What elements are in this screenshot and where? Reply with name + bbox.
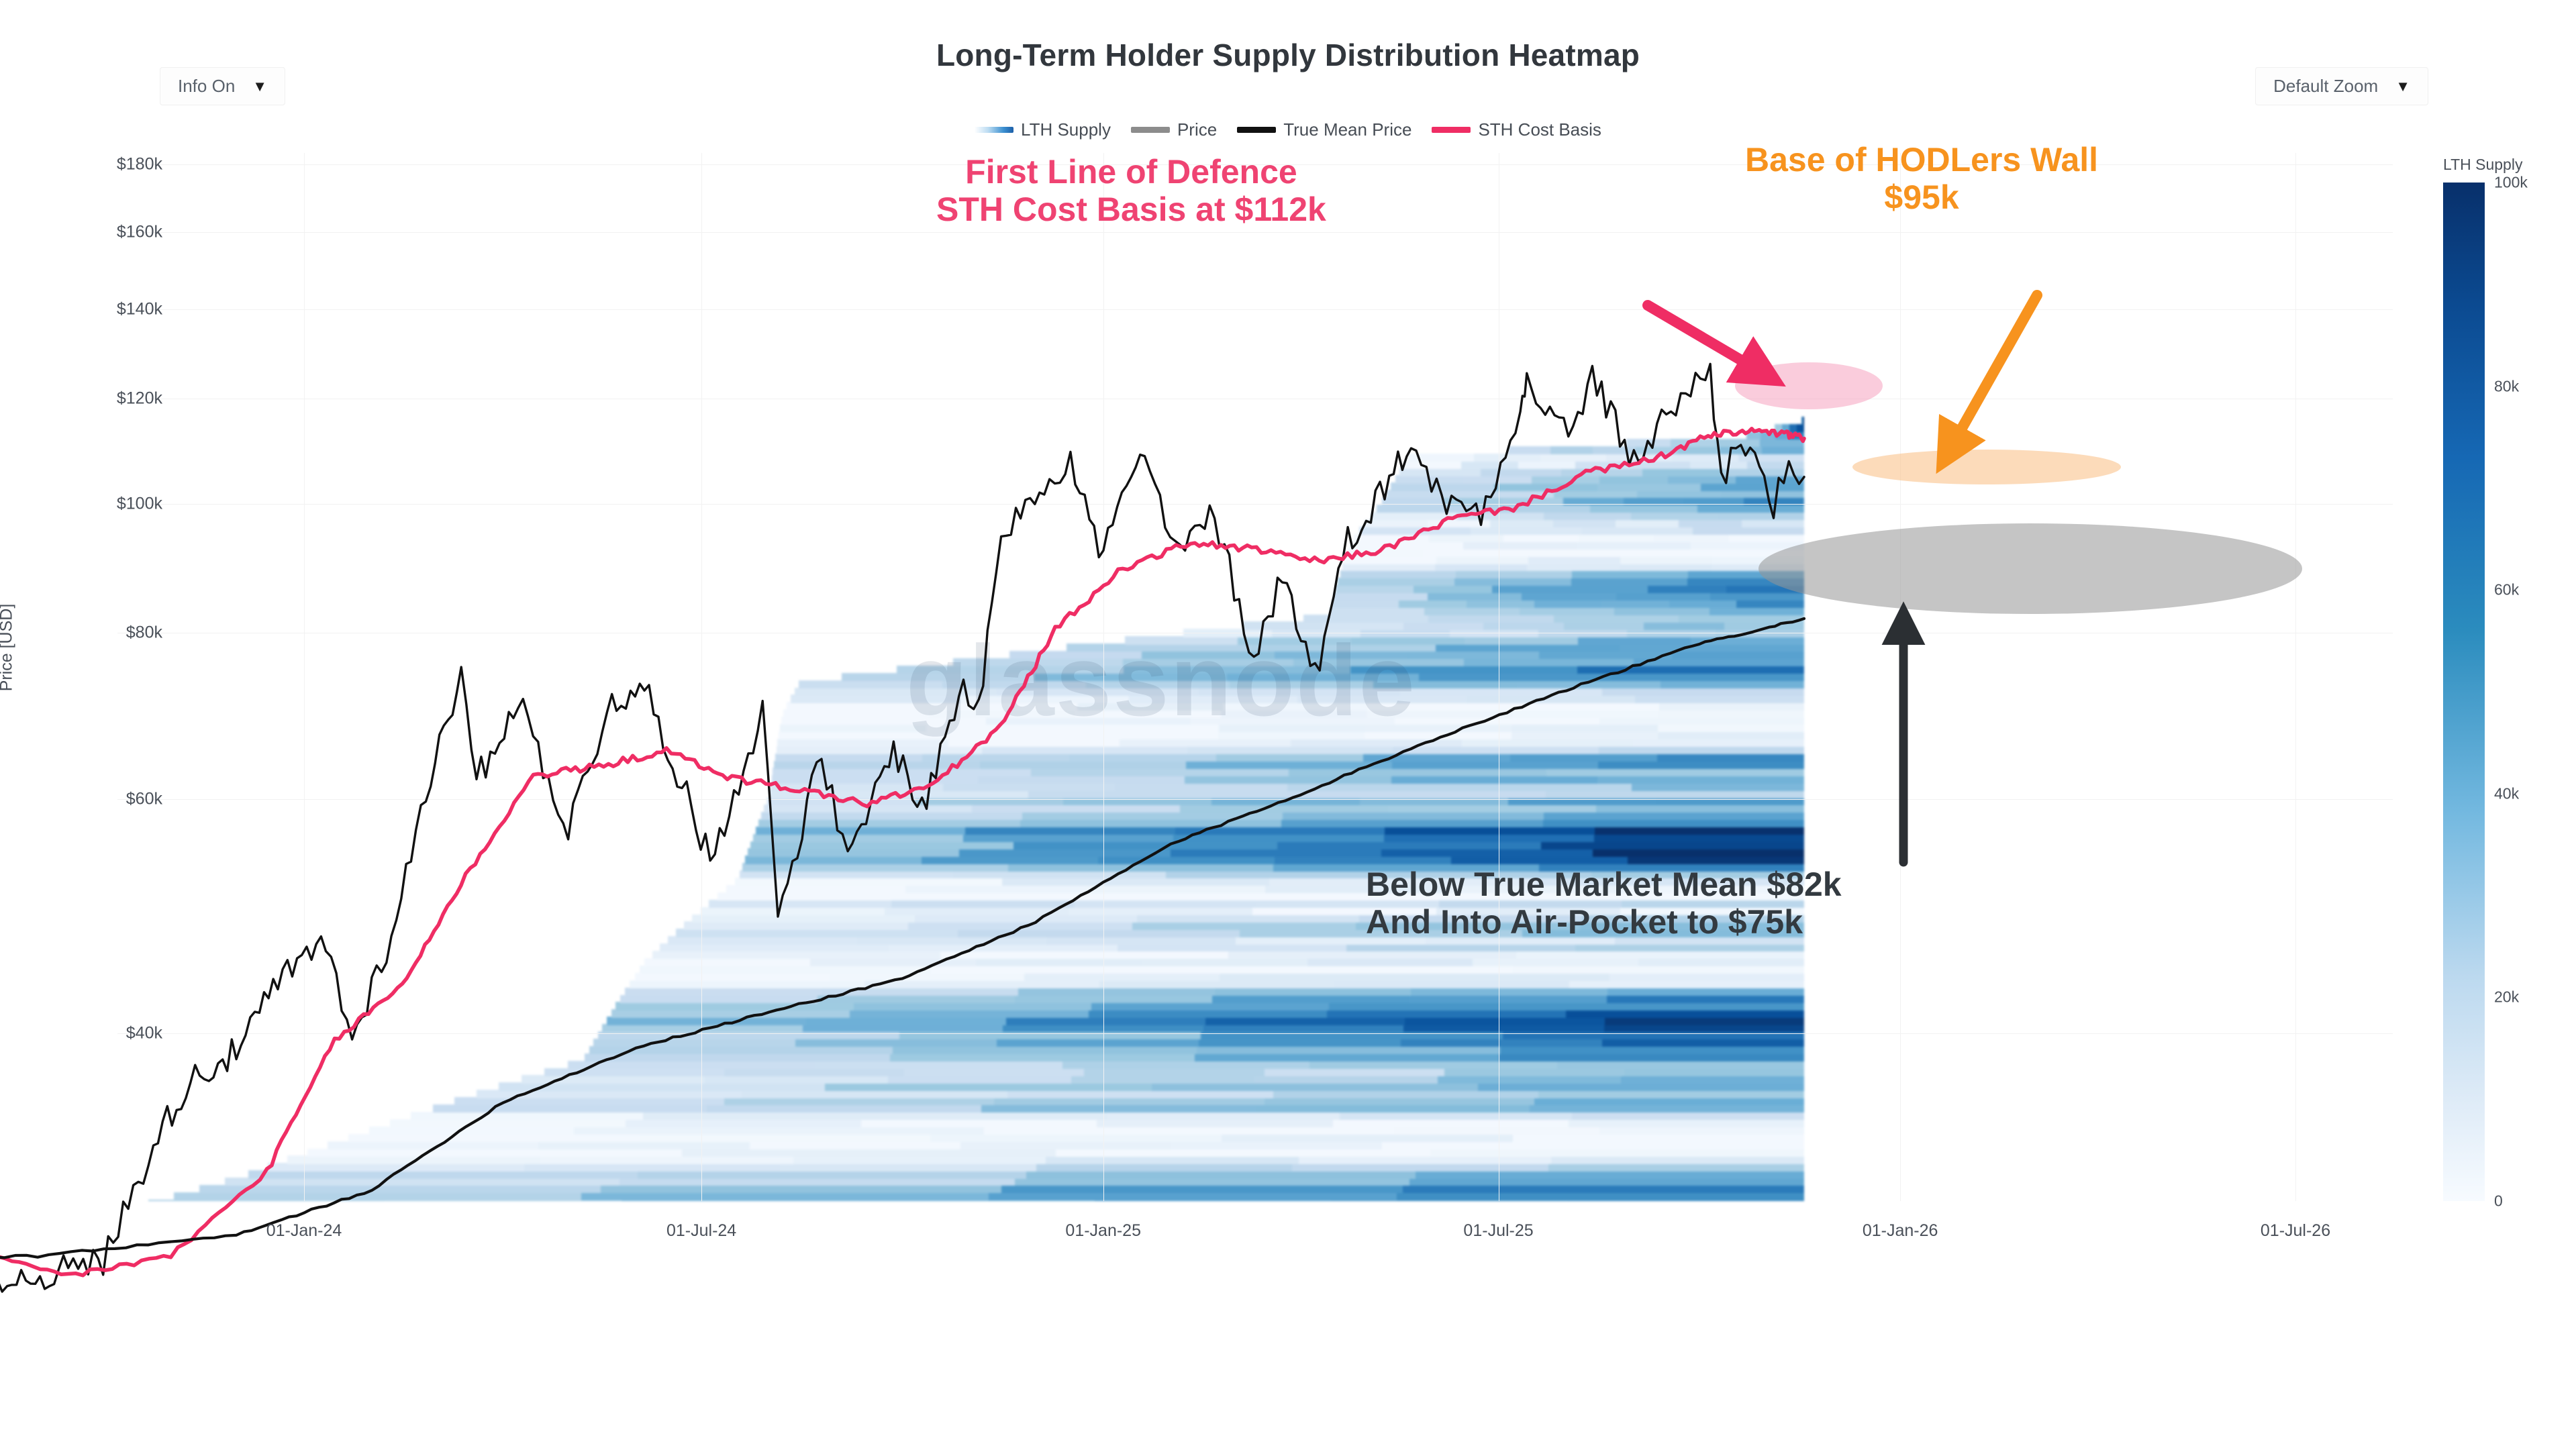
- y-axis-tick-label: $120k: [62, 389, 162, 409]
- heatmap-band: [1742, 519, 1805, 527]
- heatmap-band: [568, 1061, 816, 1069]
- heatmap-band: [1467, 694, 1636, 703]
- heatmap-band: [1510, 754, 1658, 762]
- heatmap-band: [1132, 921, 1357, 929]
- heatmap-band: [1115, 782, 1288, 790]
- heatmap-band: [1620, 556, 1713, 564]
- heatmap-band: [1338, 578, 1455, 586]
- heatmap-band: [1416, 1170, 1805, 1178]
- heatmap-band: [1661, 680, 1804, 688]
- heatmap-band: [1456, 570, 1573, 578]
- legend-item-true-mean-price[interactable]: True Mean Price: [1237, 119, 1411, 140]
- heatmap-band: [1046, 936, 1237, 944]
- heatmap-band: [1557, 1061, 1804, 1069]
- legend-item-price[interactable]: Price: [1131, 119, 1217, 140]
- heatmap-band: [1635, 694, 1804, 703]
- heatmap-band: [783, 709, 930, 717]
- heatmap-band: [522, 1075, 706, 1083]
- heatmap-band: [1342, 563, 1436, 571]
- heatmap-band: [890, 1053, 1196, 1062]
- heatmap-band: [1567, 1002, 1804, 1010]
- heatmap-band: [1534, 1097, 1804, 1105]
- heatmap-band: [1598, 761, 1804, 769]
- info-dropdown-label: Info On: [178, 76, 235, 97]
- heatmap-band: [1631, 512, 1719, 520]
- heatmap-band: [544, 1068, 726, 1076]
- heatmap-band: [1578, 636, 1692, 644]
- heatmap-band: [982, 746, 1189, 754]
- heatmap-band: [1575, 943, 1804, 951]
- gridline-vertical: [1499, 153, 1499, 1201]
- heatmap-band: [1142, 651, 1275, 659]
- y-axis-tick-label: $100k: [62, 495, 162, 514]
- heatmap-band: [1544, 512, 1632, 520]
- heatmap-band: [1197, 1046, 1501, 1054]
- heatmap-band: [889, 943, 1118, 951]
- heatmap-band: [1392, 761, 1599, 769]
- heatmap-band: [1013, 841, 1278, 849]
- heatmap-band: [1215, 988, 1412, 996]
- heatmap-band: [643, 1112, 876, 1120]
- heatmap-band: [1395, 717, 1600, 725]
- heatmap-band: [1723, 468, 1804, 476]
- heatmap-band: [1571, 578, 1689, 586]
- heatmap-band: [1546, 768, 1804, 776]
- heatmap-band: [1444, 1068, 1626, 1076]
- heatmap-band: [574, 1127, 780, 1135]
- chart-title: Long-Term Holder Supply Distribution Hea…: [0, 37, 2576, 73]
- heatmap-band: [1474, 454, 1541, 462]
- heatmap-band: [1118, 943, 1347, 951]
- heatmap-band: [1185, 775, 1392, 783]
- legend-label: STH Cost Basis: [1478, 119, 1601, 140]
- heatmap-band: [1069, 754, 1218, 762]
- heatmap-band: [1577, 666, 1804, 674]
- heatmap-band: [1123, 658, 1294, 666]
- heatmap-band: [758, 819, 1021, 827]
- heatmap-band: [1180, 805, 1389, 813]
- heatmap-band: [1385, 827, 1595, 835]
- heatmap-band: [1435, 563, 1528, 571]
- heatmap-band: [1593, 1141, 1804, 1149]
- heatmap-band: [1637, 490, 1722, 498]
- heatmap-band: [1220, 973, 1416, 981]
- heatmap-band: [965, 827, 1176, 835]
- heatmap-band: [625, 988, 822, 996]
- heatmap-band: [830, 973, 1026, 981]
- heatmap-band: [717, 892, 936, 900]
- heatmap-band: [875, 1112, 1108, 1120]
- heatmap-band: [1500, 1046, 1804, 1054]
- y-axis-tick-label: $140k: [62, 300, 162, 319]
- heatmap-band: [1340, 570, 1457, 578]
- heatmap-band: [799, 680, 943, 688]
- heatmap-band: [1405, 1017, 1605, 1025]
- heatmap-band: [538, 1141, 750, 1149]
- heatmap-band: [390, 1119, 627, 1127]
- heatmap-band: [287, 1155, 541, 1163]
- heatmap-band: [1401, 1039, 1603, 1047]
- heatmap-band: [1438, 1075, 1622, 1083]
- heatmap-band: [1171, 848, 1383, 856]
- sth-cost-basis-highlight-ellipse: [1735, 362, 1883, 409]
- heatmap-band: [899, 1031, 1202, 1039]
- heatmap-band: [1309, 1061, 1558, 1069]
- heatmap-band: [615, 1002, 854, 1010]
- heatmap-band: [1359, 527, 1471, 535]
- heatmap-band: [707, 1104, 982, 1113]
- heatmap-band: [953, 658, 1124, 666]
- heatmap-band: [795, 688, 997, 696]
- heatmap-band: [1419, 673, 1612, 681]
- heatmap-band: [930, 1134, 1222, 1142]
- heatmap-band: [1621, 1075, 1804, 1083]
- heatmap-band: [1634, 658, 1804, 666]
- heatmap-band: [1789, 431, 1804, 439]
- heatmap-band: [1624, 1068, 1804, 1076]
- heatmap-band: [1593, 446, 1636, 454]
- heatmap-band: [960, 694, 1130, 703]
- legend-label: LTH Supply: [1021, 119, 1111, 140]
- heatmap-band: [1679, 519, 1742, 527]
- heatmap-band: [1031, 768, 1290, 776]
- gridline-vertical: [1103, 153, 1104, 1201]
- heatmap-band: [761, 812, 1023, 820]
- heatmap-band: [1528, 556, 1621, 564]
- heatmap-band: [972, 805, 1181, 813]
- x-axis-tick-label: 01-Jan-26: [1863, 1221, 1938, 1241]
- heatmap-band: [1275, 856, 1452, 864]
- heatmap-band: [1620, 643, 1804, 652]
- heatmap-band: [1546, 790, 1804, 798]
- heatmap-band: [922, 754, 1071, 762]
- heatmap-band: [905, 885, 1086, 893]
- heatmap-band: [997, 688, 1199, 696]
- heatmap-band: [1034, 673, 1228, 681]
- heatmap-band: [1142, 958, 1308, 966]
- heatmap-band: [1265, 1068, 1446, 1076]
- heatmap-band: [701, 907, 886, 915]
- heatmap-band: [199, 1185, 601, 1193]
- heatmap-band: [1467, 600, 1535, 608]
- heatmap-band: [1230, 680, 1374, 688]
- heatmap-band: [1607, 995, 1804, 1003]
- heatmap-band: [795, 1039, 998, 1047]
- gridline-vertical: [2295, 153, 2296, 1201]
- heatmap-band: [1346, 943, 1576, 951]
- heatmap-band: [753, 834, 964, 842]
- heatmap-band: [1644, 621, 1725, 629]
- heatmap-band: [779, 1127, 985, 1135]
- heatmap-band: [1349, 541, 1464, 549]
- heatmap-band: [1633, 739, 1804, 747]
- gridline-vertical: [701, 153, 702, 1201]
- heatmap-band: [1672, 454, 1739, 462]
- heatmap-band: [1221, 709, 1368, 717]
- heatmap-band: [709, 900, 892, 908]
- heatmap-band: [1344, 556, 1437, 564]
- heatmap-band: [1599, 717, 1804, 725]
- heatmap-band: [989, 1192, 1397, 1200]
- air-pocket-highlight-ellipse: [1758, 523, 2302, 614]
- heatmap-band: [1548, 1163, 1805, 1171]
- heatmap-band: [1277, 841, 1542, 849]
- colorbar-tick-label: 0: [2494, 1192, 2503, 1210]
- heatmap-band: [1616, 519, 1679, 527]
- heatmap-band: [1340, 1112, 1573, 1120]
- lth-supply-swatch-icon: [975, 127, 1013, 133]
- heatmap-band: [1582, 527, 1694, 535]
- heatmap-band: [774, 761, 981, 769]
- heatmap-band: [1293, 658, 1465, 666]
- heatmap-band: [602, 1024, 803, 1032]
- heatmap-band: [1654, 534, 1730, 542]
- heatmap-band: [1738, 454, 1804, 462]
- heatmap-band: [771, 782, 944, 790]
- heatmap-band: [935, 892, 1153, 900]
- heatmap-band: [1026, 1170, 1416, 1178]
- heatmap-band: [1503, 1031, 1804, 1039]
- heatmap-band: [1710, 592, 1804, 601]
- heatmap-band: [777, 739, 949, 747]
- heatmap-band: [1189, 1127, 1395, 1135]
- heatmap-band: [1543, 819, 1804, 827]
- heatmap-band: [1599, 475, 1669, 483]
- heatmap-band: [1428, 519, 1491, 527]
- x-axis-tick-label: 01-Jan-25: [1065, 1221, 1141, 1241]
- heatmap-band: [929, 709, 1076, 717]
- heatmap-band: [1186, 761, 1393, 769]
- heatmap-band: [1595, 827, 1804, 835]
- heatmap-band: [1550, 446, 1594, 454]
- heatmap-band: [864, 980, 1100, 988]
- gridline-horizontal: [117, 504, 2393, 505]
- heatmap-band: [1222, 966, 1514, 974]
- heatmap-band: [1222, 1134, 1514, 1142]
- heatmap-band: [1024, 973, 1220, 981]
- heatmap-band: [174, 1192, 583, 1200]
- heatmap-band: [1056, 1149, 1431, 1157]
- heatmap-band: [1569, 1119, 1804, 1127]
- heatmap-band: [1303, 615, 1430, 623]
- heatmap-band: [1354, 534, 1430, 542]
- x-axis-tick-label: 01-Jul-26: [2261, 1221, 2330, 1241]
- chart-plot-area[interactable]: glassnode: [117, 153, 2393, 1201]
- heatmap-band: [1607, 988, 1804, 996]
- hodlers-wall-highlight-ellipse: [1852, 450, 2121, 484]
- heatmap-band: [1074, 900, 1257, 908]
- heatmap-band: [1367, 709, 1514, 717]
- heatmap-band: [976, 958, 1142, 966]
- heatmap-band: [1534, 600, 1603, 608]
- heatmap-band: [1099, 980, 1335, 988]
- heatmap-band: [959, 848, 1171, 856]
- heatmap-band: [777, 746, 983, 754]
- heatmap-band: [1020, 819, 1283, 827]
- heatmap-band: [1483, 621, 1565, 629]
- chart-legend: LTH Supply Price True Mean Price STH Cos…: [0, 119, 2576, 140]
- heatmap-band: [748, 848, 960, 856]
- heatmap-band: [1599, 746, 1804, 754]
- heatmap-band: [1736, 475, 1804, 483]
- heatmap-band: [607, 1017, 807, 1025]
- heatmap-band: [1724, 621, 1804, 629]
- heatmap-band: [1638, 958, 1804, 966]
- heatmap-band: [1775, 431, 1791, 439]
- heatmap-band: [1516, 951, 1804, 959]
- heatmap-band: [1697, 505, 1804, 513]
- heatmap-band: [775, 754, 924, 762]
- heatmap-band: [1553, 519, 1617, 527]
- heatmap-band: [1387, 490, 1471, 498]
- heatmap-band: [1642, 468, 1724, 476]
- heatmap-band: [635, 973, 831, 981]
- heatmap-band: [1729, 534, 1804, 542]
- heatmap-band: [1404, 461, 1463, 469]
- heatmap-band: [791, 694, 960, 703]
- heatmap-band: [1518, 461, 1577, 469]
- heatmap-band: [1424, 607, 1520, 615]
- heatmap-band: [1223, 702, 1369, 710]
- heatmap-band: [601, 1185, 1003, 1193]
- heatmap-band: [1760, 439, 1804, 447]
- heatmap-band: [1499, 1053, 1804, 1062]
- heatmap-band: [1173, 834, 1385, 842]
- heatmap-band: [1411, 988, 1608, 996]
- x-axis-tick-label: 01-Jan-24: [266, 1221, 342, 1241]
- heatmap-band: [1028, 790, 1288, 798]
- heatmap-band: [1471, 527, 1583, 535]
- heatmap-band: [780, 1163, 1037, 1171]
- y-axis-tick-label: $80k: [62, 623, 162, 643]
- heatmap-band: [1292, 1163, 1549, 1171]
- gridline-vertical: [304, 153, 305, 1201]
- heatmap-band: [1067, 643, 1252, 652]
- colorbar-tick-label: 100k: [2494, 174, 2528, 192]
- heatmap-band: [454, 1097, 726, 1105]
- heatmap-band: [1069, 907, 1254, 915]
- x-axis-tick-label: 01-Jul-25: [1463, 1221, 1533, 1241]
- colorbar-tick-label: 60k: [2494, 581, 2519, 599]
- legend-item-lth-supply[interactable]: LTH Supply: [975, 119, 1111, 140]
- heatmap-band: [769, 790, 1029, 798]
- sth-cost-basis-annotation: First Line of Defence STH Cost Basis at …: [936, 153, 1326, 228]
- heatmap-band: [593, 1039, 796, 1047]
- heatmap-band: [772, 775, 979, 783]
- heatmap-band: [1530, 1104, 1804, 1113]
- heatmap-band: [1377, 505, 1485, 513]
- heatmap-band: [1423, 548, 1500, 556]
- heatmap-band: [1399, 468, 1481, 476]
- heatmap-band: [692, 915, 915, 923]
- heatmap-band: [1579, 534, 1654, 542]
- heatmap-band: [1291, 739, 1463, 747]
- heatmap-band: [1797, 424, 1804, 432]
- heatmap-band: [1219, 724, 1366, 732]
- heatmap-band: [1403, 1024, 1605, 1032]
- heatmap-band: [1710, 607, 1804, 615]
- legend-item-sth-cost-basis[interactable]: STH Cost Basis: [1432, 119, 1601, 140]
- heatmap-band: [1513, 1134, 1804, 1142]
- heatmap-band: [780, 724, 927, 732]
- heatmap-band: [1273, 1090, 1540, 1098]
- heatmap-band: [1089, 1009, 1328, 1017]
- heatmap-band: [581, 1192, 990, 1200]
- gridline-horizontal: [117, 232, 2393, 233]
- heatmap-band: [1097, 1119, 1334, 1127]
- heatmap-band: [781, 717, 987, 725]
- heatmap-band: [1503, 534, 1579, 542]
- heatmap-band: [1517, 680, 1661, 688]
- heatmap-band: [1746, 431, 1762, 439]
- heatmap-band: [735, 878, 1003, 886]
- heatmap-band: [1384, 834, 1595, 842]
- heatmap-band: [1512, 709, 1659, 717]
- colorbar: [2443, 183, 2485, 1201]
- heatmap-band: [1403, 621, 1485, 629]
- heatmap-band: [268, 1163, 525, 1171]
- heatmap-band: [1373, 680, 1518, 688]
- heatmap-band: [1350, 666, 1578, 674]
- heatmap-band: [1720, 446, 1763, 454]
- heatmap-band: [1333, 1119, 1570, 1127]
- heatmap-band: [724, 1068, 905, 1076]
- heatmap-band: [1701, 482, 1804, 490]
- heatmap-band: [1628, 856, 1804, 864]
- heatmap-band: [1679, 615, 1804, 623]
- colorbar-gradient: [2443, 183, 2485, 1201]
- heatmap-band: [248, 1170, 638, 1178]
- gridline-horizontal: [117, 399, 2393, 399]
- heatmap-band: [1152, 1082, 1479, 1090]
- heatmap-band: [1009, 651, 1143, 659]
- heatmap-band: [1297, 694, 1467, 703]
- heatmap-band: [1461, 461, 1520, 469]
- heatmap-band: [1657, 754, 1804, 762]
- heatmap-band: [1658, 731, 1804, 739]
- heatmap-band: [984, 1127, 1190, 1135]
- heatmap-band: [1015, 1178, 1411, 1186]
- heatmap-band: [1403, 1185, 1804, 1193]
- heatmap-band: [893, 1046, 1197, 1054]
- heatmap-band: [1539, 651, 1673, 659]
- heatmap-band: [1265, 1097, 1536, 1105]
- heatmap-band: [1129, 694, 1299, 703]
- heatmap-band: [803, 1024, 1004, 1032]
- heatmap-band: [225, 1178, 621, 1186]
- heatmap-band: [960, 1141, 1173, 1149]
- y-axis-tick-label: $160k: [62, 223, 162, 242]
- heatmap-band: [1205, 1017, 1406, 1025]
- heatmap-band: [1541, 841, 1805, 849]
- heatmap-band: [1718, 512, 1804, 520]
- heatmap-band: [1554, 615, 1680, 623]
- heatmap-band: [1287, 790, 1546, 798]
- heatmap-band: [779, 731, 926, 739]
- heatmap-band: [1652, 548, 1729, 556]
- heatmap-band: [589, 1046, 894, 1054]
- heatmap-band: [1409, 1178, 1804, 1186]
- heatmap-band: [1436, 556, 1529, 564]
- heatmap-band: [1256, 1104, 1531, 1113]
- heatmap-band: [1195, 1053, 1501, 1062]
- heatmap-band: [997, 1039, 1199, 1047]
- heatmap-band: [644, 958, 811, 966]
- colorbar-title: LTH Supply: [2443, 156, 2522, 174]
- heatmap-band: [1307, 958, 1474, 966]
- heatmap-band: [1669, 600, 1738, 608]
- heatmap-band: [1243, 621, 1324, 629]
